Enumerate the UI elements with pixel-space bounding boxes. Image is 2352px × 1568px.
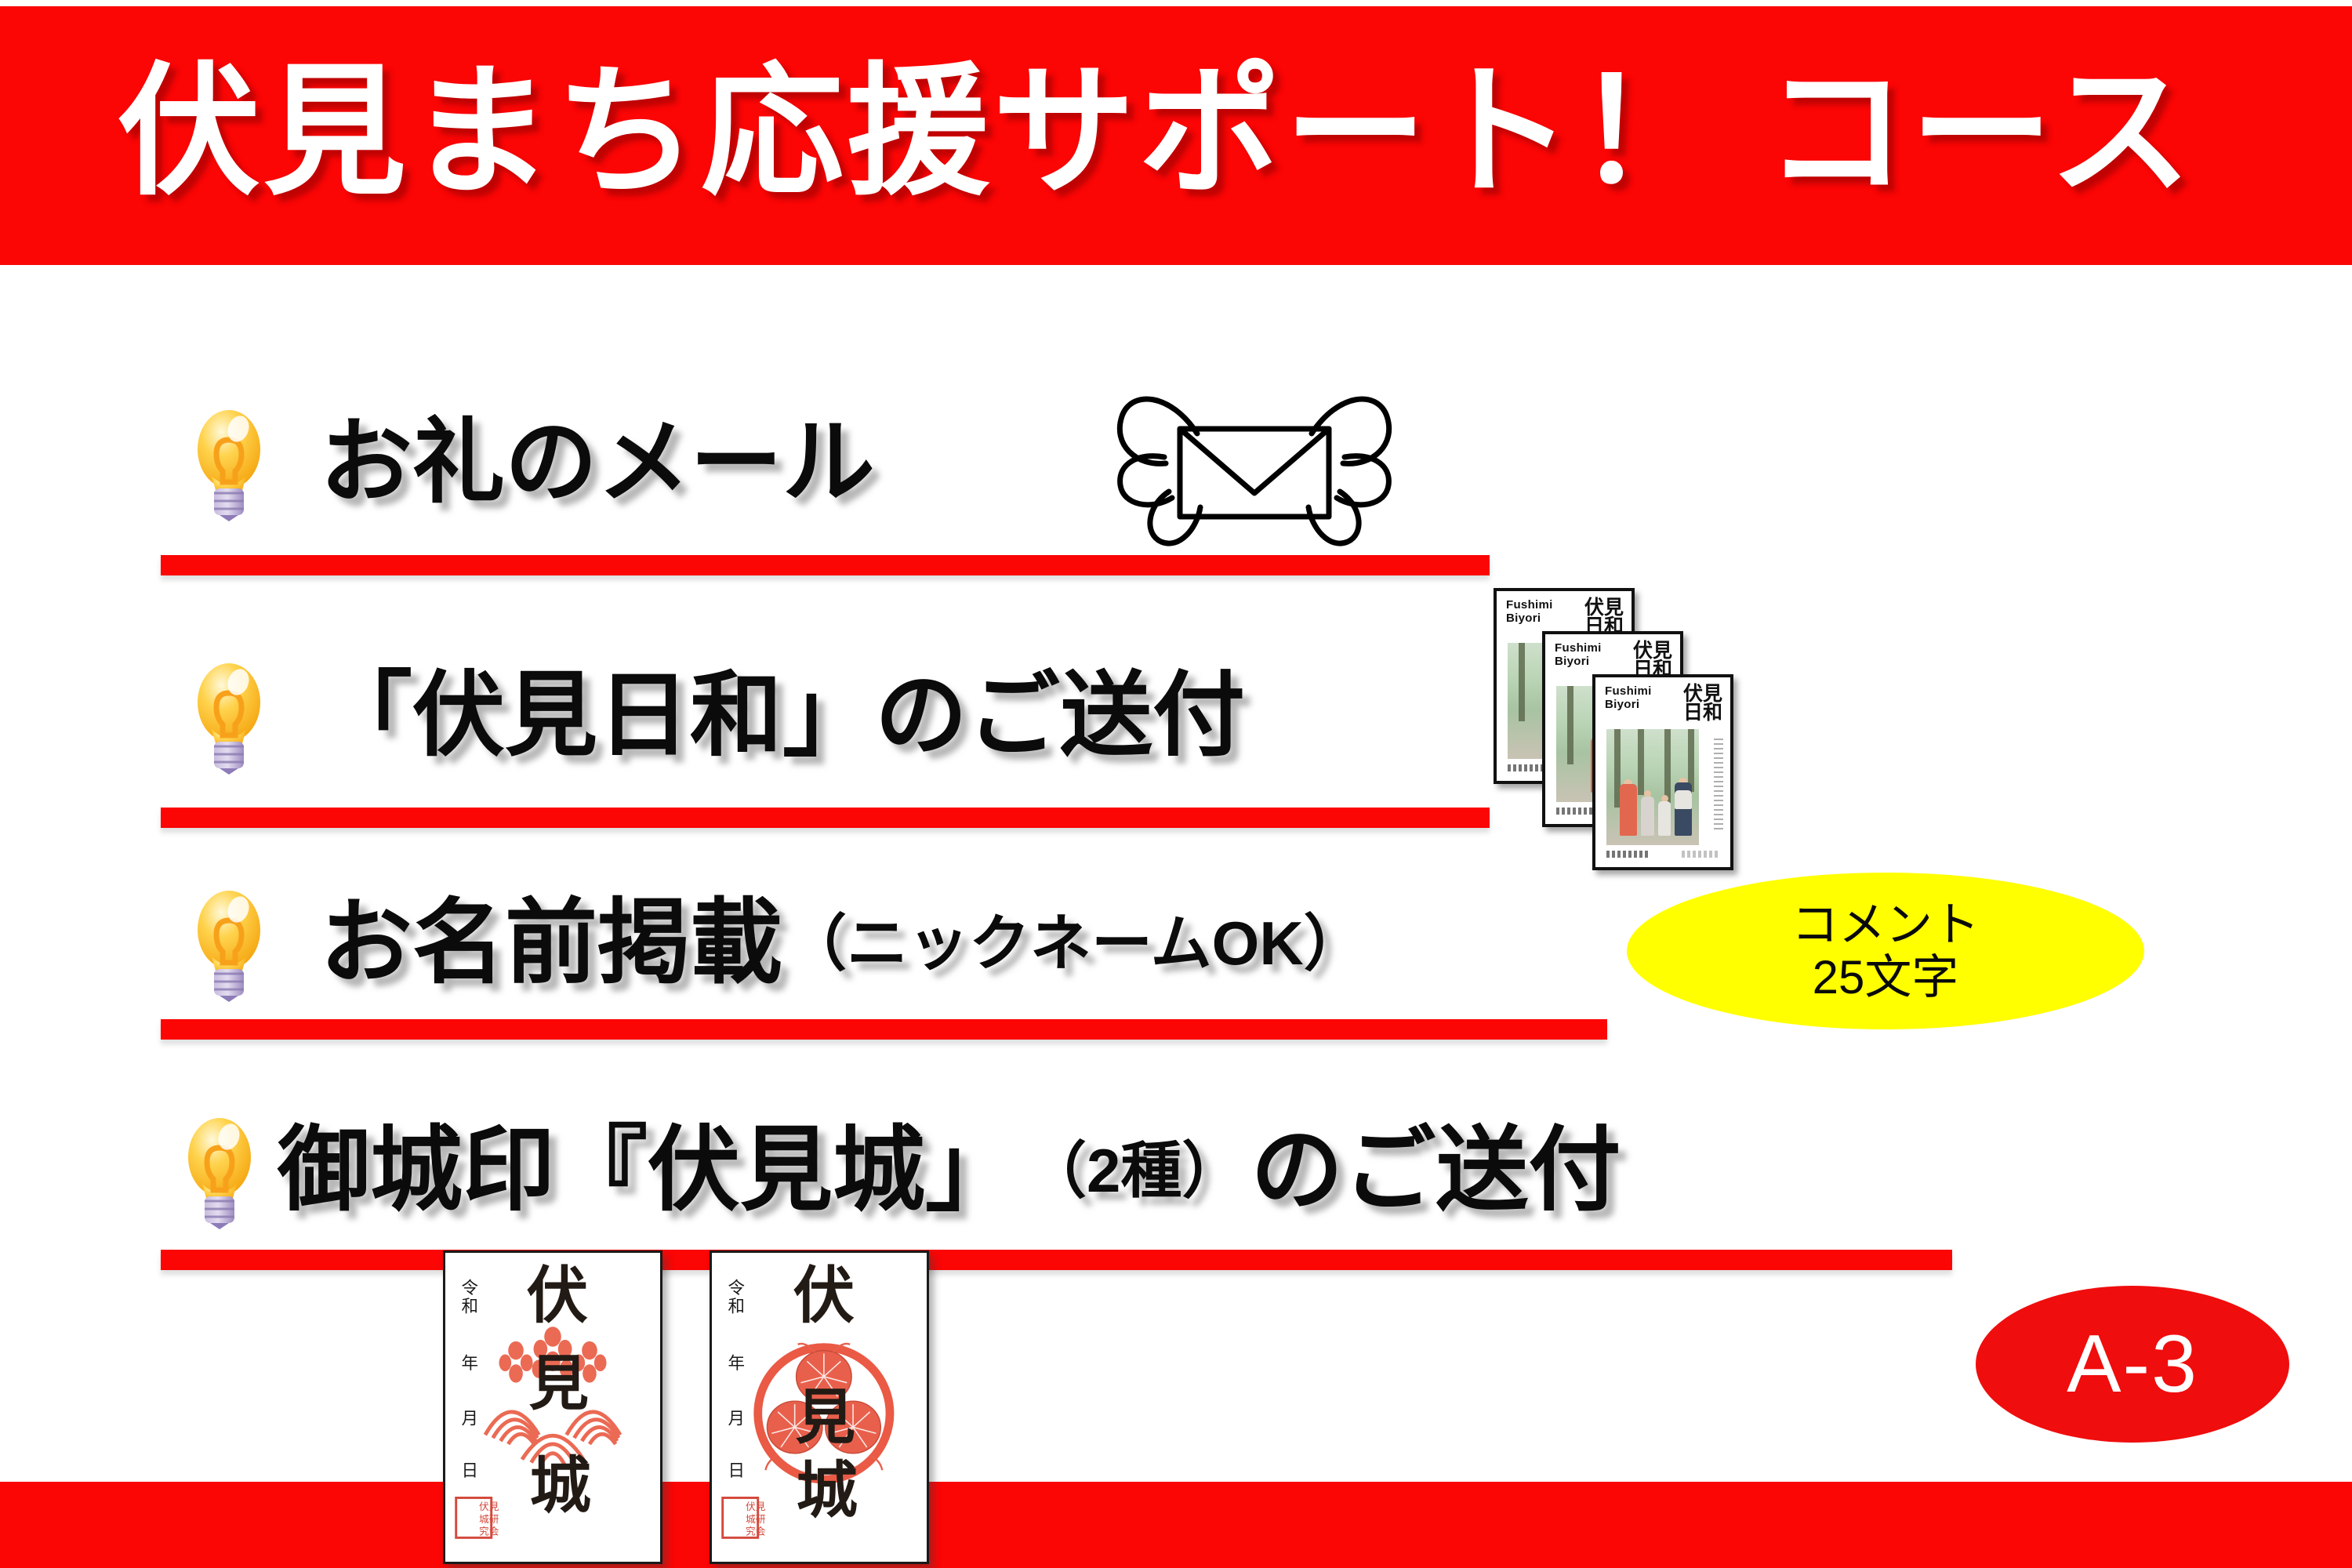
bottom-band (0, 1482, 2352, 1568)
divider-1 (161, 555, 1490, 575)
page-title: 伏見まち応援サポート！ コース (118, 22, 2313, 241)
svg-text:究会: 究会 (479, 1525, 499, 1537)
reward-row-1: お礼のメール (188, 404, 875, 521)
seal-char-top: 伏 (793, 1260, 855, 1332)
svg-text:日: 日 (728, 1461, 746, 1481)
comment-badge-line1: コメント (1791, 898, 1980, 951)
svg-text:和: 和 (462, 1298, 479, 1317)
brochure-title-en: FushimiBiyori (1506, 599, 1553, 626)
course-code-badge: A-3 (1976, 1286, 2289, 1443)
svg-text:令: 令 (728, 1279, 746, 1298)
svg-text:年: 年 (462, 1354, 479, 1374)
seal-char-mid: 見 (796, 1381, 855, 1452)
svg-text:城研: 城研 (746, 1513, 766, 1525)
reward-label-2: 「伏見日和」のご送付 (320, 670, 1245, 762)
lightbulb-icon (188, 404, 270, 521)
svg-text:月: 月 (728, 1410, 746, 1429)
svg-text:和: 和 (728, 1298, 746, 1317)
winged-envelope-icon (1109, 388, 1399, 572)
slide-canvas: 伏見まち応援サポート！ コース (0, 0, 2352, 1568)
reward-row-2: 「伏見日和」のご送付 (188, 657, 1245, 775)
castle-seal-card: 伏 見 城 令和 年月日 伏見城研究会 (443, 1250, 662, 1564)
divider-2 (161, 808, 1490, 828)
reward-row-3: お名前掲載 （ニックネームOK） (188, 884, 1365, 1002)
castle-seal-card: 伏 見 城 令和 年月日 伏見城研究会 (710, 1250, 929, 1564)
reward-label-1: お礼のメール (320, 416, 875, 509)
lightbulb-icon (179, 1112, 260, 1229)
svg-text:年: 年 (728, 1354, 746, 1374)
reward-label-3: お名前掲載 (320, 897, 782, 989)
seal-char-bottom: 城 (797, 1454, 858, 1526)
svg-text:日: 日 (462, 1461, 479, 1481)
brochure-title-en: FushimiBiyori (1605, 685, 1652, 712)
brochure-photo (1606, 729, 1699, 845)
svg-text:伏見: 伏見 (746, 1501, 766, 1512)
comment-badge-line2: 25文字 (1813, 951, 1959, 1004)
seal-char-mid: 見 (529, 1348, 589, 1418)
brochure-title-en: FushimiBiyori (1555, 642, 1602, 669)
reward-row-4: 御城印『伏見城」 （2種） のご送付 (179, 1112, 1621, 1229)
svg-text:令: 令 (462, 1279, 479, 1298)
divider-4 (161, 1250, 1952, 1270)
divider-3 (161, 1019, 1607, 1040)
comment-badge: コメント 25文字 (1627, 873, 2144, 1029)
brochure-title-jp: 伏見日和 (1679, 685, 1722, 723)
reward-label-4: 御城印『伏見城」 (278, 1124, 1018, 1217)
svg-text:究会: 究会 (746, 1525, 766, 1537)
lightbulb-icon (188, 884, 270, 1002)
reward-sublabel-3: （ニックネームOK） (786, 913, 1365, 974)
seal-char-bottom: 城 (530, 1450, 591, 1522)
svg-text:城研: 城研 (479, 1513, 499, 1525)
seal-char-top: 伏 (527, 1260, 588, 1332)
reward-label-4-tail: のご送付 (1250, 1124, 1621, 1217)
fushimi-biyori-brochure-stack: FushimiBiyori 伏見日和 FushimiBiyori 伏見日和 (1494, 588, 1823, 917)
svg-text:伏見: 伏見 (479, 1501, 499, 1512)
reward-sublabel-4: （2種） (1025, 1140, 1243, 1201)
svg-text:月: 月 (462, 1410, 479, 1429)
lightbulb-icon (188, 657, 270, 775)
brochure-cover: FushimiBiyori 伏見日和 (1592, 674, 1733, 870)
